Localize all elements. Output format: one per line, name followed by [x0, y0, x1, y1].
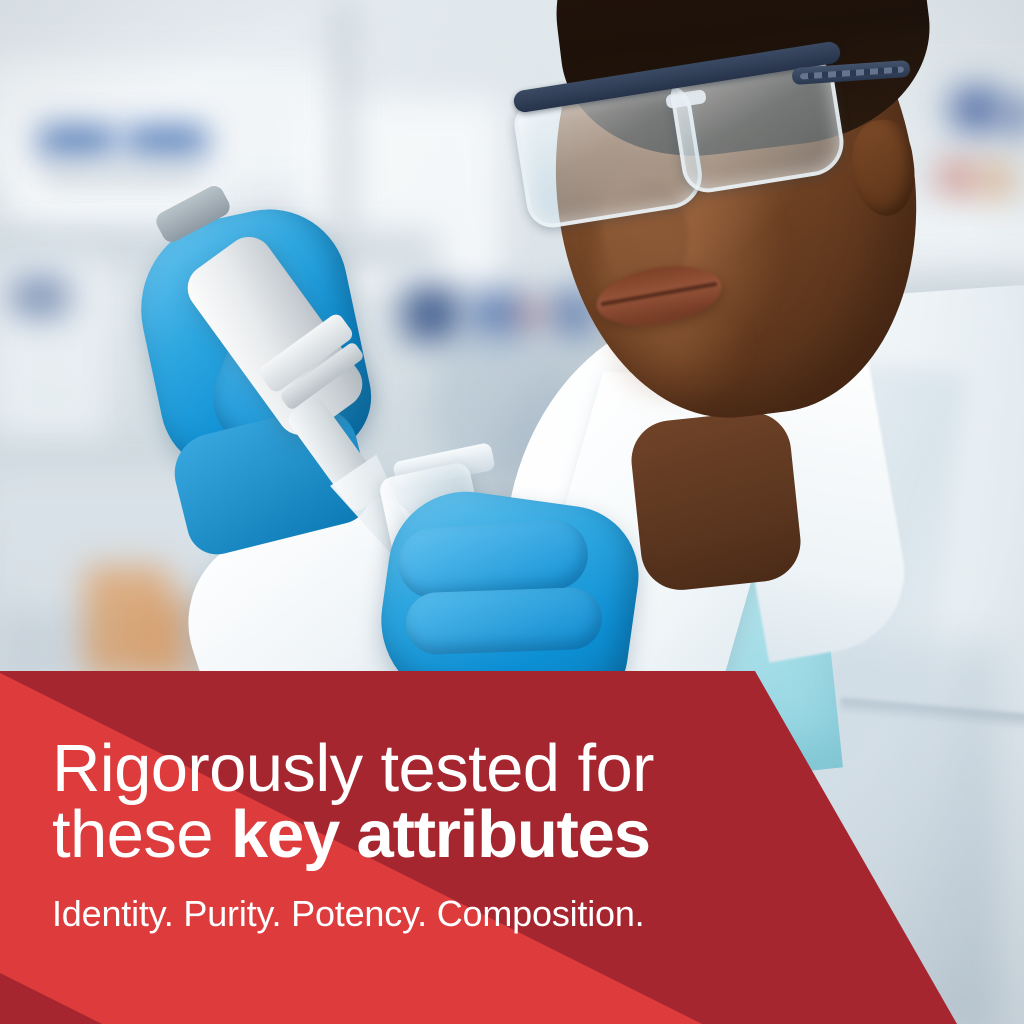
poster-root: Rigorously tested forthese key attribute…: [0, 0, 1024, 1024]
banner-headline: Rigorously tested forthese key attribute…: [52, 736, 752, 869]
nitrile-glove-finger-2: [405, 587, 603, 656]
chin-highlight: [600, 320, 750, 410]
neck: [628, 408, 805, 594]
banner-subline: Identity. Purity. Potency. Composition.: [52, 893, 752, 935]
headline-line-2-light: these: [52, 797, 231, 872]
headline-line-1: Rigorously tested for: [52, 731, 654, 806]
headline-line-2-bold: key attributes: [231, 797, 650, 872]
banner-text-block: Rigorously tested forthese key attribute…: [52, 736, 752, 935]
